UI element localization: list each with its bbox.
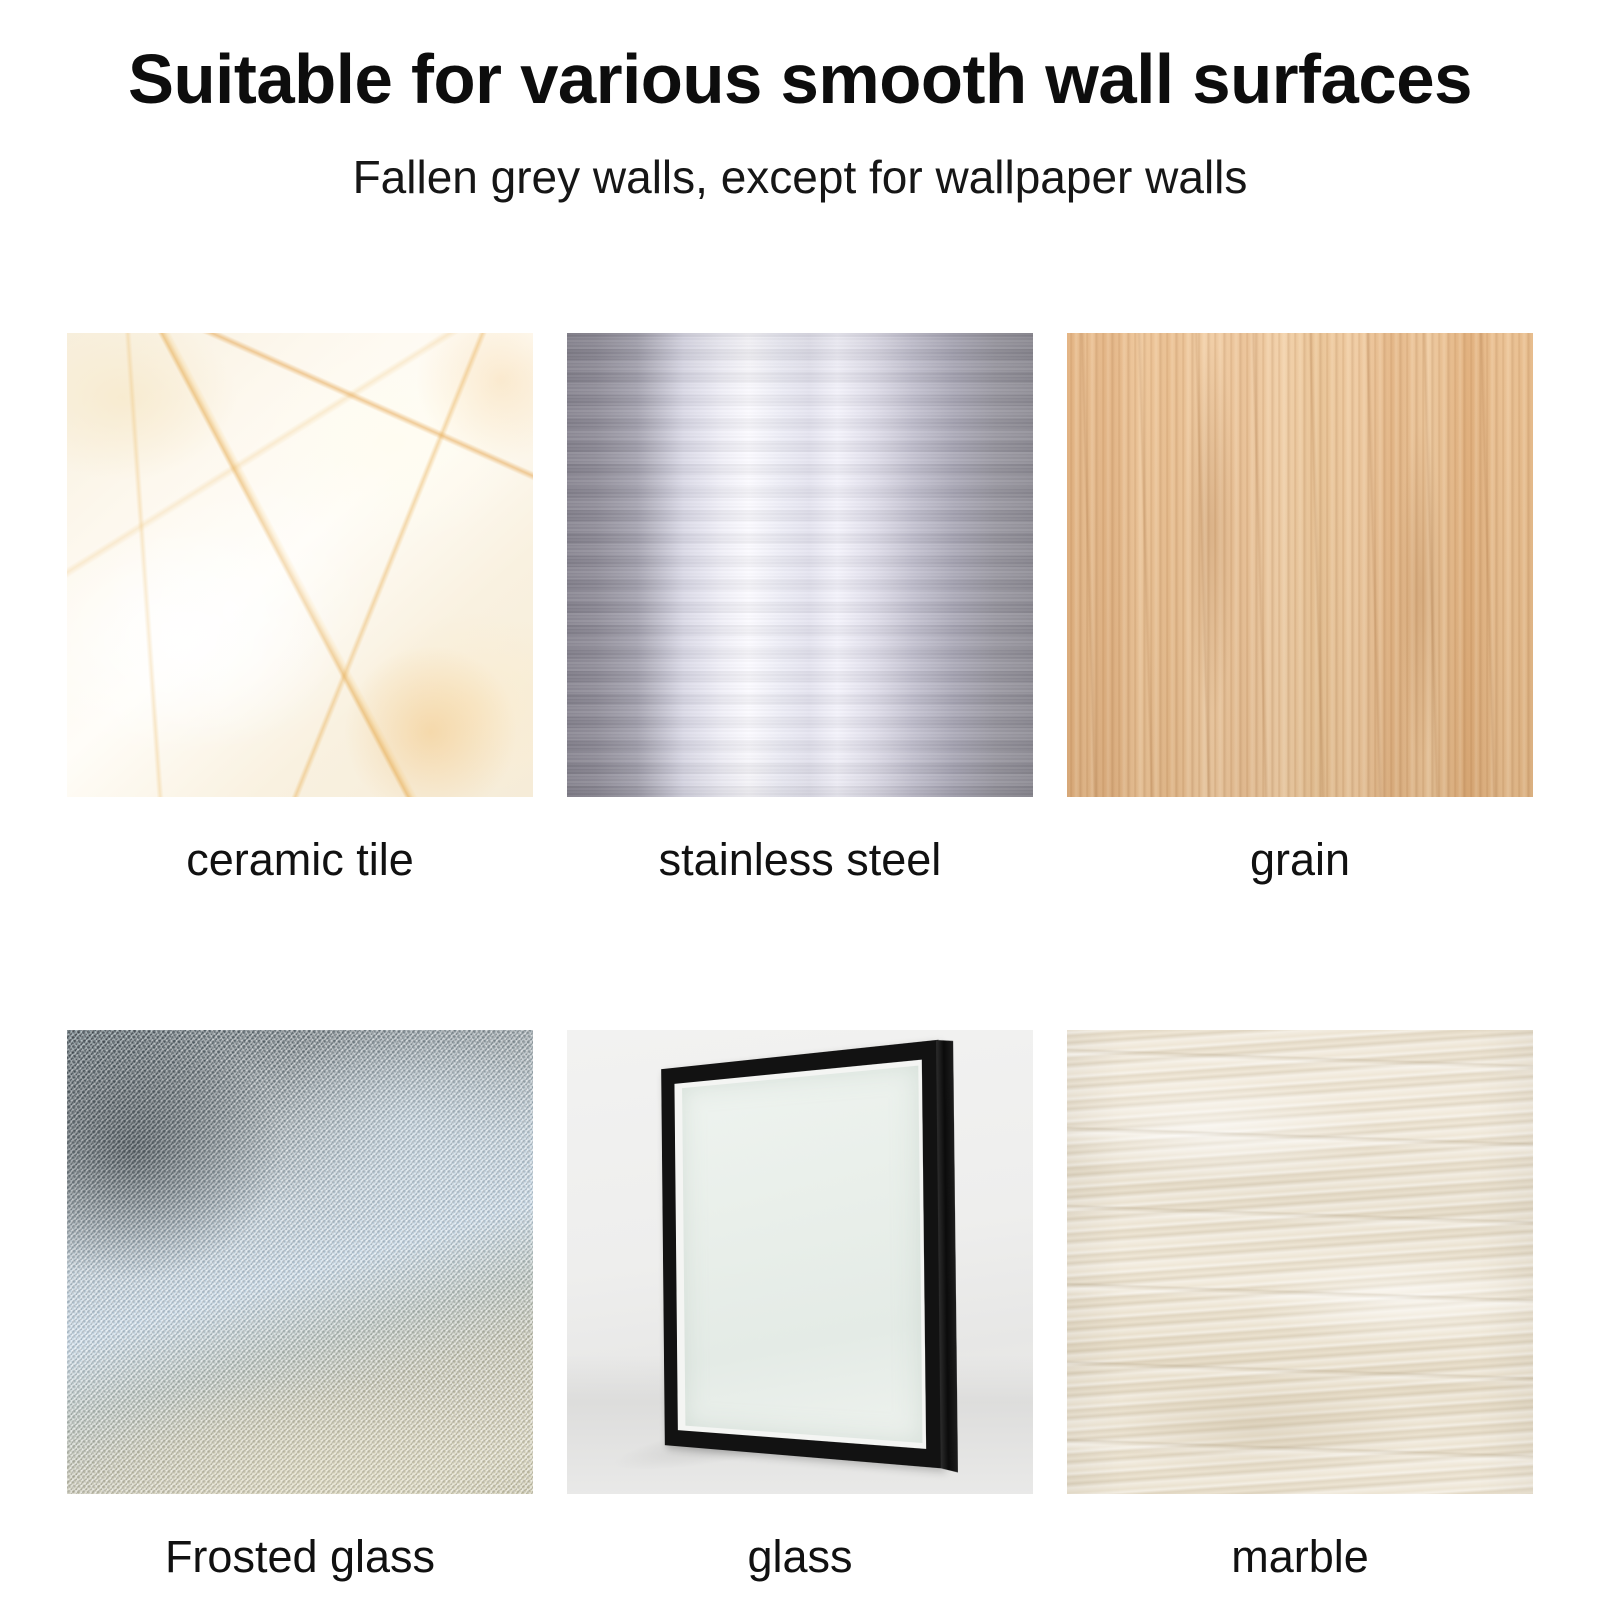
marble-swatch <box>1067 1030 1533 1494</box>
grain-label: grain <box>1067 837 1533 882</box>
glass-panel-side-edge <box>935 1040 956 1472</box>
surface-cell-ceramic-tile: ceramic tile <box>67 333 533 882</box>
glass-label: glass <box>567 1534 1033 1579</box>
stainless-steel-swatch <box>567 333 1033 797</box>
page-subtitle: Fallen grey walls, except for wallpaper … <box>0 154 1600 200</box>
glass-panel-pane <box>681 1066 921 1443</box>
marble-label: marble <box>1067 1534 1533 1579</box>
surface-cell-stainless-steel: stainless steel <box>567 333 1033 882</box>
header: Suitable for various smooth wall surface… <box>0 44 1600 200</box>
glass-panel-frame <box>661 1040 943 1469</box>
page-title: Suitable for various smooth wall surface… <box>12 44 1588 114</box>
surface-cell-grain: grain <box>1067 333 1533 882</box>
surface-row-2: Frosted glass glass marble <box>67 1030 1533 1579</box>
surface-grid: ceramic tile stainless steel grain Frost… <box>67 333 1533 1579</box>
grain-swatch <box>1067 333 1533 797</box>
surface-row-1: ceramic tile stainless steel grain <box>67 333 1533 882</box>
ceramic-tile-swatch <box>67 333 533 797</box>
surface-cell-marble: marble <box>1067 1030 1533 1579</box>
ceramic-tile-label: ceramic tile <box>67 837 533 882</box>
surface-cell-frosted-glass: Frosted glass <box>67 1030 533 1579</box>
frosted-glass-swatch <box>67 1030 533 1494</box>
glass-swatch <box>567 1030 1033 1494</box>
frosted-glass-label: Frosted glass <box>67 1534 533 1579</box>
glass-panel-spacer-bar <box>674 1060 925 1450</box>
surface-cell-glass: glass <box>567 1030 1033 1579</box>
infographic-page: Suitable for various smooth wall surface… <box>0 0 1600 1600</box>
stainless-steel-label: stainless steel <box>567 837 1033 882</box>
